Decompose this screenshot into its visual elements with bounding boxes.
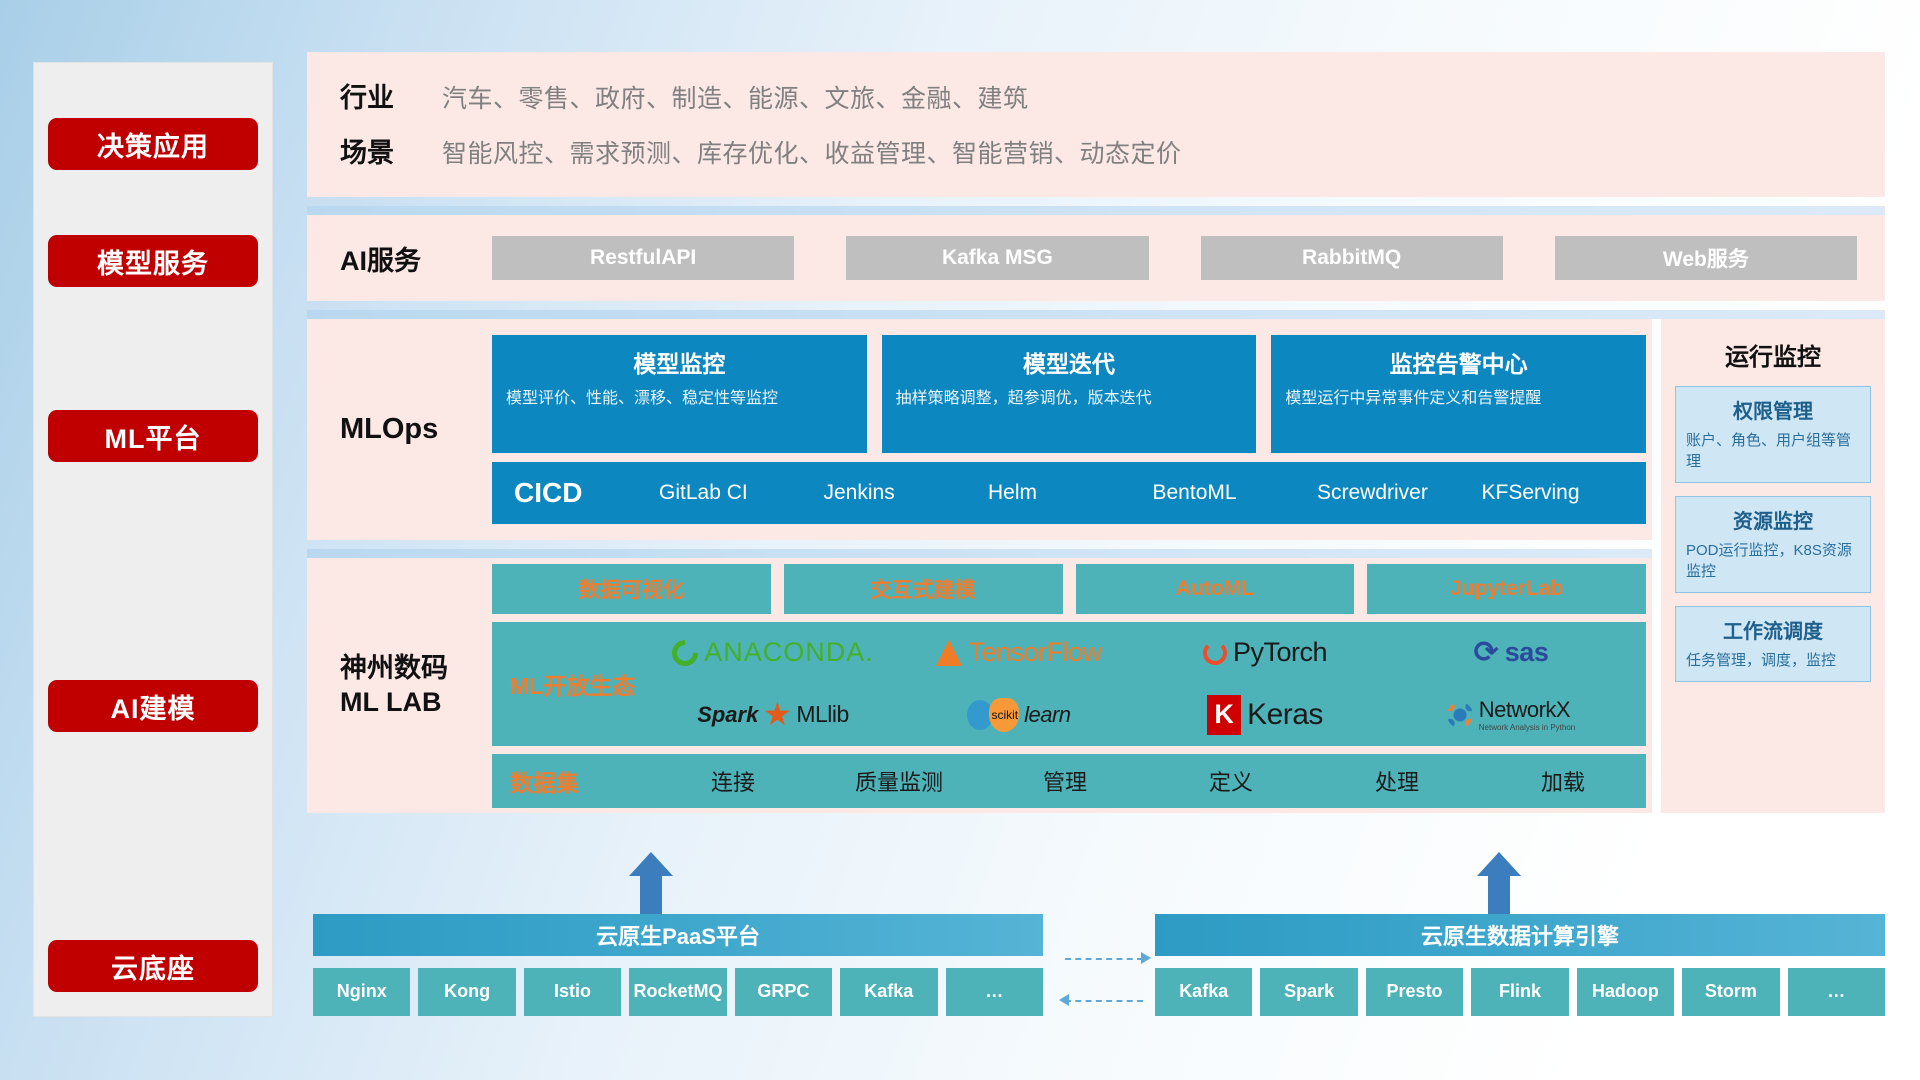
band-divider <box>307 549 1652 558</box>
keras-k-icon: K <box>1207 695 1241 735</box>
item-label: BentoML <box>1153 481 1237 504</box>
cloud-data-engine-chip-list: Kafka Spark Presto Flink Hadoop Storm … <box>1155 968 1885 1016</box>
card-description: 账户、角色、用户组等管理 <box>1686 430 1860 472</box>
chip-label: RabbitMQ <box>1302 246 1401 270</box>
cloud-data-engine-title: 云原生数据计算引擎 <box>1155 914 1885 956</box>
item-label: 处理 <box>1375 770 1419 795</box>
ai-service-chip-restfulapi[interactable]: RestfulAPI <box>492 236 794 280</box>
decision-apps-band: 行业 汽车、零售、政府、制造、能源、文旅、金融、建筑 场景 智能风控、需求预测、… <box>307 52 1885 197</box>
card-description: 抽样策略调整，超参调优，版本迭代 <box>896 387 1243 410</box>
cloud-chip-more[interactable]: … <box>946 968 1043 1016</box>
item-label: KFServing <box>1482 481 1580 504</box>
spark-star-icon <box>764 702 790 728</box>
cicd-item-list: GitLab CI Jenkins Helm BentoML Screwdriv… <box>659 482 1646 504</box>
stage-chip-model-service[interactable]: 模型服务 <box>48 235 258 287</box>
ml-zone-left: MLOps 模型监控 模型评价、性能、漂移、稳定性等监控 模型迭代 抽样策略调整… <box>307 319 1652 813</box>
architecture-diagram: 决策应用 模型服务 ML平台 AI建模 云底座 行业 汽车、零售、政府、制造、能… <box>0 0 1920 1080</box>
cloud-chip-istio[interactable]: Istio <box>524 968 621 1016</box>
cloud-paas-group: 云原生PaaS平台 Nginx Kong Istio RocketMQ GRPC… <box>313 914 1043 1016</box>
monitoring-card-resources[interactable]: 资源监控 POD运行监控，K8S资源监控 <box>1675 496 1871 593</box>
cicd-bar: CICD GitLab CI Jenkins Helm BentoML Scre… <box>492 462 1646 524</box>
anaconda-logo: ANACONDA. <box>672 637 874 668</box>
tensorflow-logo: TensorFlow <box>936 637 1101 668</box>
stage-label: AI建模 <box>111 687 196 726</box>
cloud-chip-storm[interactable]: Storm <box>1682 968 1779 1016</box>
dataset-item-connect[interactable]: 连接 <box>650 765 816 797</box>
ai-modeling-band: 神州数码 ML LAB 数据可视化 交互式建模 AutoML JupyterLa… <box>307 558 1652 813</box>
monitoring-card-permissions[interactable]: 权限管理 账户、角色、用户组等管理 <box>1675 386 1871 483</box>
ml-lab-label-line1: 神州数码 <box>340 652 492 686</box>
mlops-stack: 模型监控 模型评价、性能、漂移、稳定性等监控 模型迭代 抽样策略调整，超参调优，… <box>492 335 1652 524</box>
item-label: 连接 <box>711 770 755 795</box>
tool-chip-data-visualization[interactable]: 数据可视化 <box>492 564 771 614</box>
monitoring-rail: 运行监控 权限管理 账户、角色、用户组等管理 资源监控 POD运行监控，K8S资… <box>1661 319 1885 813</box>
stage-chip-ai-modeling[interactable]: AI建模 <box>48 680 258 732</box>
sas-swirl-icon: ⟳ <box>1474 635 1499 670</box>
cloud-chip-more-data[interactable]: … <box>1788 968 1885 1016</box>
anaconda-wordmark: ANACONDA. <box>704 637 874 668</box>
mlops-card-model-iteration[interactable]: 模型迭代 抽样策略调整，超参调优，版本迭代 <box>882 335 1257 453</box>
chip-label: AutoML <box>1176 577 1254 601</box>
ai-service-label: AI服务 <box>340 239 492 278</box>
card-title: 模型监控 <box>506 345 853 379</box>
modeling-stack: 数据可视化 交互式建模 AutoML JupyterLab ML开放生态 ANA… <box>492 564 1652 808</box>
cicd-title: CICD <box>514 477 659 509</box>
ml-ecosystem-bar: ML开放生态 ANACONDA. TensorFlow <box>492 622 1646 746</box>
spark-wordmark: Spark <box>697 702 758 728</box>
dataset-item-process[interactable]: 处理 <box>1314 765 1480 797</box>
cloud-chip-kafka-data[interactable]: Kafka <box>1155 968 1252 1016</box>
ai-service-chip-web-service[interactable]: Web服务 <box>1555 236 1857 280</box>
cloud-data-engine-group: 云原生数据计算引擎 Kafka Spark Presto Flink Hadoo… <box>1155 914 1885 1016</box>
scenario-values: 智能风控、需求预测、库存优化、收益管理、智能营销、动态定价 <box>442 134 1182 170</box>
mlops-band: MLOps 模型监控 模型评价、性能、漂移、稳定性等监控 模型迭代 抽样策略调整… <box>307 319 1652 540</box>
chip-label: 交互式建模 <box>871 574 976 604</box>
item-label: GitLab CI <box>659 481 748 504</box>
chip-label: Kafka <box>864 982 913 1002</box>
card-title: 资源监控 <box>1686 505 1860 534</box>
networkx-tagline: Network Analysis in Python <box>1479 723 1576 732</box>
stage-label: 模型服务 <box>97 242 209 281</box>
chip-label: GRPC <box>757 982 809 1002</box>
sas-wordmark: sas <box>1505 637 1549 668</box>
band-divider <box>307 310 1885 319</box>
card-title: 工作流调度 <box>1686 615 1860 644</box>
band-divider <box>307 206 1885 215</box>
item-label: 加载 <box>1541 770 1585 795</box>
card-description: 任务管理，调度，监控 <box>1686 650 1860 671</box>
chip-label: Istio <box>554 982 591 1002</box>
chip-label: Hadoop <box>1592 982 1659 1002</box>
chip-label: Nginx <box>337 982 387 1002</box>
cicd-item-jenkins[interactable]: Jenkins <box>824 482 989 504</box>
modeling-tool-list: 数据可视化 交互式建模 AutoML JupyterLab <box>492 564 1646 614</box>
chip-label: … <box>985 982 1003 1002</box>
cloud-chip-hadoop[interactable]: Hadoop <box>1577 968 1674 1016</box>
tool-chip-jupyterlab[interactable]: JupyterLab <box>1367 564 1646 614</box>
keras-logo: K Keras <box>1207 695 1323 735</box>
chip-label: Web服务 <box>1663 243 1749 273</box>
cloud-base-zone: 云原生PaaS平台 Nginx Kong Istio RocketMQ GRPC… <box>307 890 1885 1040</box>
chip-label: Kafka MSG <box>942 246 1053 270</box>
chip-label: Kong <box>444 982 490 1002</box>
item-label: 质量监测 <box>855 770 943 795</box>
ml-lab-label: 神州数码 ML LAB <box>340 652 492 720</box>
item-label: Helm <box>988 481 1037 504</box>
dataset-item-manage[interactable]: 管理 <box>982 765 1148 797</box>
cicd-item-screwdriver[interactable]: Screwdriver <box>1317 482 1482 504</box>
cicd-item-helm[interactable]: Helm <box>988 482 1153 504</box>
ai-service-band: AI服务 RestfulAPI Kafka MSG RabbitMQ Web服务 <box>307 215 1885 301</box>
stage-rail <box>33 62 273 1017</box>
chip-label: 数据可视化 <box>579 574 684 604</box>
ml-zone: MLOps 模型监控 模型评价、性能、漂移、稳定性等监控 模型迭代 抽样策略调整… <box>307 319 1885 813</box>
dataset-item-list: 连接 质量监测 管理 定义 处理 加载 <box>650 765 1646 797</box>
stage-chip-cloud-base[interactable]: 云底座 <box>48 940 258 992</box>
cloud-chip-rocketmq[interactable]: RocketMQ <box>629 968 726 1016</box>
chip-label: Kafka <box>1179 982 1228 1002</box>
cloud-link-arrow-left <box>1059 994 1069 1006</box>
spark-mllib-logo: Spark MLlib <box>697 701 849 728</box>
mlops-card-alert-center[interactable]: 监控告警中心 模型运行中异常事件定义和告警提醒 <box>1271 335 1646 453</box>
ai-service-chip-rabbitmq[interactable]: RabbitMQ <box>1201 236 1503 280</box>
mllib-wordmark: MLlib <box>796 701 848 728</box>
cloud-link-line-top <box>1065 958 1143 960</box>
item-label: Jenkins <box>824 481 895 504</box>
networkx-logo: NetworkX Network Analysis in Python <box>1447 697 1576 732</box>
chip-label: Spark <box>1284 982 1334 1002</box>
scenario-row: 场景 智能风控、需求预测、库存优化、收益管理、智能营销、动态定价 <box>307 131 1885 170</box>
cloud-link-line-bottom <box>1065 1000 1143 1002</box>
anaconda-ring-icon <box>667 634 704 671</box>
mlops-label: MLOps <box>340 413 492 446</box>
networkx-wordmark-group: NetworkX Network Analysis in Python <box>1479 697 1576 732</box>
cloud-link-arrow-right <box>1141 952 1151 964</box>
networkx-wordmark: NetworkX <box>1479 697 1570 722</box>
cloud-chip-kong[interactable]: Kong <box>418 968 515 1016</box>
pytorch-wordmark: PyTorch <box>1233 637 1327 668</box>
cloud-paas-chip-list: Nginx Kong Istio RocketMQ GRPC Kafka … <box>313 968 1043 1016</box>
tensorflow-wordmark: TensorFlow <box>968 637 1101 668</box>
pytorch-logo: PyTorch <box>1203 637 1327 668</box>
monitoring-card-workflow[interactable]: 工作流调度 任务管理，调度，监控 <box>1675 606 1871 682</box>
cloud-chip-grpc[interactable]: GRPC <box>735 968 832 1016</box>
ml-lab-label-line2: ML LAB <box>340 686 492 720</box>
mlops-card-list: 模型监控 模型评价、性能、漂移、稳定性等监控 模型迭代 抽样策略调整，超参调优，… <box>492 335 1646 453</box>
paas-up-arrow <box>629 852 673 914</box>
card-description: 模型运行中异常事件定义和告警提醒 <box>1285 387 1632 410</box>
tensorflow-mark-icon <box>936 640 962 666</box>
industry-values: 汽车、零售、政府、制造、能源、文旅、金融、建筑 <box>442 79 1029 115</box>
stage-label: 云底座 <box>111 947 195 986</box>
card-title: 监控告警中心 <box>1285 345 1632 379</box>
dataset-item-load[interactable]: 加载 <box>1480 765 1646 797</box>
item-label: Screwdriver <box>1317 481 1428 504</box>
stage-label: 决策应用 <box>97 125 209 164</box>
cloud-chip-flink[interactable]: Flink <box>1471 968 1568 1016</box>
chip-label: … <box>1827 982 1845 1002</box>
learn-wordmark: learn <box>1024 702 1070 728</box>
cloud-chip-spark[interactable]: Spark <box>1260 968 1357 1016</box>
sas-logo: ⟳ sas <box>1474 635 1549 670</box>
cicd-item-kfserving[interactable]: KFServing <box>1482 482 1647 504</box>
keras-wordmark: Keras <box>1247 698 1323 732</box>
stage-label: ML平台 <box>105 417 202 456</box>
cloud-chip-nginx[interactable]: Nginx <box>313 968 410 1016</box>
main-column: 行业 汽车、零售、政府、制造、能源、文旅、金融、建筑 场景 智能风控、需求预测、… <box>307 52 1885 822</box>
chip-label: Presto <box>1387 982 1443 1002</box>
scikit-wordmark: scikit <box>991 708 1018 722</box>
scikit-learn-logo: scikit learn <box>967 698 1070 732</box>
item-label: 管理 <box>1043 770 1087 795</box>
pytorch-flame-icon <box>1203 641 1227 665</box>
dataset-item-quality[interactable]: 质量监测 <box>816 765 982 797</box>
dataset-bar: 数据集 连接 质量监测 管理 定义 处理 加载 <box>492 754 1646 808</box>
card-description: 模型评价、性能、漂移、稳定性等监控 <box>506 387 853 410</box>
cloud-paas-title: 云原生PaaS平台 <box>313 914 1043 956</box>
stage-chip-ml-platform[interactable]: ML平台 <box>48 410 258 462</box>
networkx-graph-icon <box>1447 702 1473 728</box>
chip-label: RestfulAPI <box>590 246 696 270</box>
card-title: 权限管理 <box>1686 395 1860 424</box>
dataset-label: 数据集 <box>510 764 650 798</box>
chip-label: Storm <box>1705 982 1757 1002</box>
monitoring-title: 运行监控 <box>1675 337 1871 372</box>
industry-row: 行业 汽车、零售、政府、制造、能源、文旅、金融、建筑 <box>307 76 1885 115</box>
ml-ecosystem-label: ML开放生态 <box>510 667 650 701</box>
chip-label: RocketMQ <box>633 982 722 1002</box>
cloud-chip-kafka[interactable]: Kafka <box>840 968 937 1016</box>
scenario-label: 场景 <box>307 131 442 170</box>
tool-chip-automl[interactable]: AutoML <box>1076 564 1355 614</box>
card-title: 模型迭代 <box>896 345 1243 379</box>
dataset-item-define[interactable]: 定义 <box>1148 765 1314 797</box>
cloud-chip-presto[interactable]: Presto <box>1366 968 1463 1016</box>
mlops-card-model-monitoring[interactable]: 模型监控 模型评价、性能、漂移、稳定性等监控 <box>492 335 867 453</box>
data-engine-up-arrow <box>1477 852 1521 914</box>
ai-service-chip-kafka-msg[interactable]: Kafka MSG <box>846 236 1148 280</box>
industry-label: 行业 <box>307 76 442 115</box>
tool-chip-interactive-modeling[interactable]: 交互式建模 <box>784 564 1063 614</box>
chip-label: Flink <box>1499 982 1541 1002</box>
cicd-item-gitlab-ci[interactable]: GitLab CI <box>659 482 824 504</box>
card-description: POD运行监控，K8S资源监控 <box>1686 540 1860 582</box>
ai-service-chip-list: RestfulAPI Kafka MSG RabbitMQ Web服务 <box>492 236 1885 280</box>
stage-chip-decision-apps[interactable]: 决策应用 <box>48 118 258 170</box>
chip-label: JupyterLab <box>1450 577 1563 601</box>
ecosystem-logo-grid: ANACONDA. TensorFlow PyTorch <box>650 622 1634 746</box>
cicd-item-bentoml[interactable]: BentoML <box>1153 482 1318 504</box>
item-label: 定义 <box>1209 770 1253 795</box>
